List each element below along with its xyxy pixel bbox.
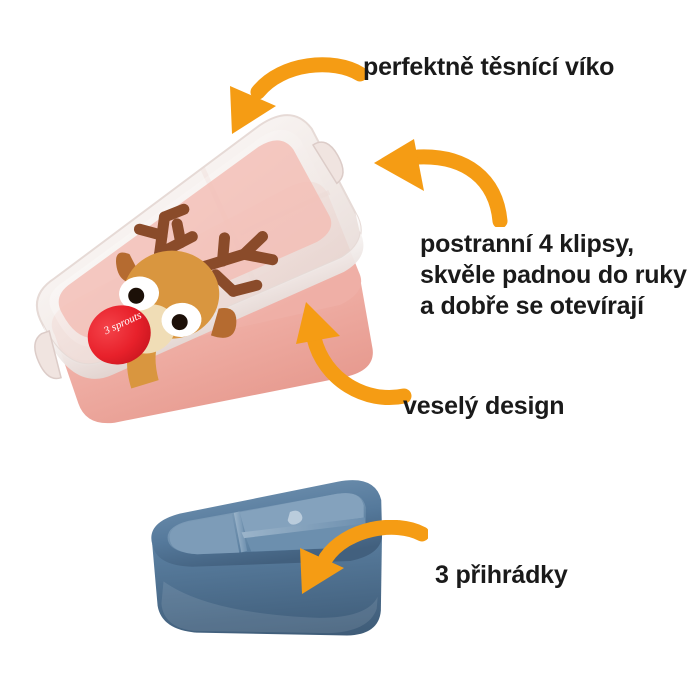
annotation-label-clips-line-1: postranní 4 klipsy, [420, 229, 695, 260]
annotation-label-clips: postranní 4 klipsy, skvěle padnou do ruk… [420, 229, 695, 322]
curved-arrow-down-left-icon [222, 56, 367, 140]
annotation-label-clips-line-3: a dobře se otevírají [420, 291, 695, 322]
lunchbox-svg: 3 sprouts [8, 88, 400, 478]
annotation-label-design: veselý design [403, 392, 564, 421]
annotation-label-lid: perfektně těsnící víko [363, 53, 614, 82]
annotation-label-clips-line-2: skvěle padnou do ruky [420, 260, 695, 291]
arrow-to-clips [368, 133, 514, 232]
curved-arrow-left-icon [368, 133, 514, 227]
annotation-label-compartments: 3 přihrádky [435, 561, 568, 590]
arrow-to-lid [222, 56, 367, 145]
arrow-to-tray [292, 520, 428, 609]
infographic-canvas: 3 sprouts [0, 0, 700, 700]
arrow-to-design [288, 288, 412, 415]
curved-arrow-down-left-icon [292, 520, 428, 604]
curved-arrow-up-left-icon [288, 288, 412, 410]
lunchbox-product-image: 3 sprouts [8, 88, 400, 478]
